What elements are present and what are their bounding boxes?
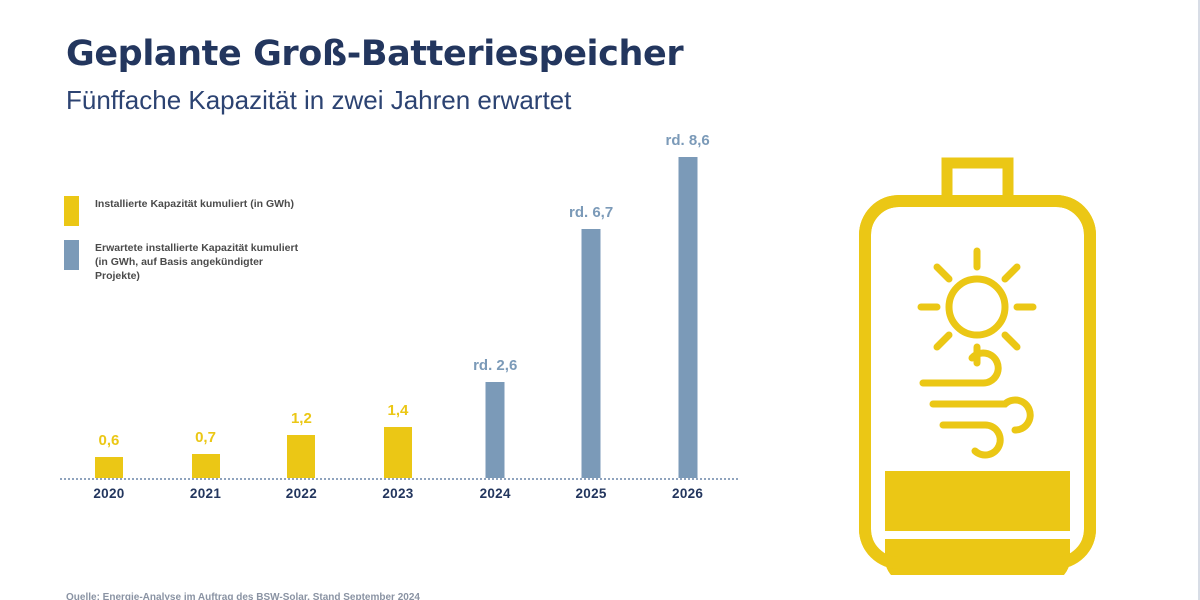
battery-charge-bar-1-icon [885,471,1070,531]
bar-value-label-2022: 1,2 [291,410,312,427]
bar-chart: 0,60,71,21,4rd. 2,6rd. 6,7rd. 8,6 202020… [60,160,740,560]
chart-baseline [60,478,740,480]
bar-2023: 1,4 [384,427,412,480]
x-axis-tick-2020: 2020 [93,486,124,501]
x-axis-tick-2023: 2023 [382,486,413,501]
x-axis: 2020202120222023202420252026 [60,486,740,510]
source-note: Quelle: Energie-Analyse im Auftrag des B… [66,592,420,600]
wind-icon [923,353,1030,455]
bar-fill-2020 [95,457,123,480]
bar-2020: 0,6 [95,457,123,480]
bar-value-label-2026: rd. 8,6 [666,132,710,149]
chart-plot-area: 0,60,71,21,4rd. 2,6rd. 6,7rd. 8,6 202020… [60,160,740,520]
bar-2021: 0,7 [192,454,220,480]
infographic-root: Geplante Groß-Batteriespeicher Fünffache… [0,0,1200,600]
bar-fill-2025 [582,229,601,480]
x-axis-tick-2026: 2026 [672,486,703,501]
bar-fill-2021 [192,454,220,480]
bar-2022: 1,2 [287,435,315,480]
x-axis-tick-2021: 2021 [190,486,221,501]
bar-value-label-2024: rd. 2,6 [473,357,517,374]
battery-with-solar-and-wind-icon [855,155,1100,575]
bar-value-label-2025: rd. 6,7 [569,204,613,221]
battery-illustration-svg [855,155,1100,575]
sun-icon [921,251,1033,363]
bar-value-label-2021: 0,7 [195,429,216,446]
bar-2024: rd. 2,6 [486,382,505,480]
x-axis-tick-2022: 2022 [286,486,317,501]
bar-2025: rd. 6,7 [582,229,601,480]
bar-value-label-2023: 1,4 [388,402,409,419]
bar-fill-2023 [384,427,412,480]
bar-fill-2024 [486,382,505,480]
header: Geplante Groß-Batteriespeicher Fünffache… [66,36,826,116]
bar-value-label-2020: 0,6 [99,432,120,449]
x-axis-tick-2024: 2024 [480,486,511,501]
bar-fill-2026 [678,157,697,480]
x-axis-tick-2025: 2025 [575,486,606,501]
bar-fill-2022 [287,435,315,480]
page-subtitle: Fünffache Kapazität in zwei Jahren erwar… [66,86,826,116]
page-title: Geplante Groß-Batteriespeicher [66,36,826,74]
bar-2026: rd. 8,6 [678,157,697,480]
